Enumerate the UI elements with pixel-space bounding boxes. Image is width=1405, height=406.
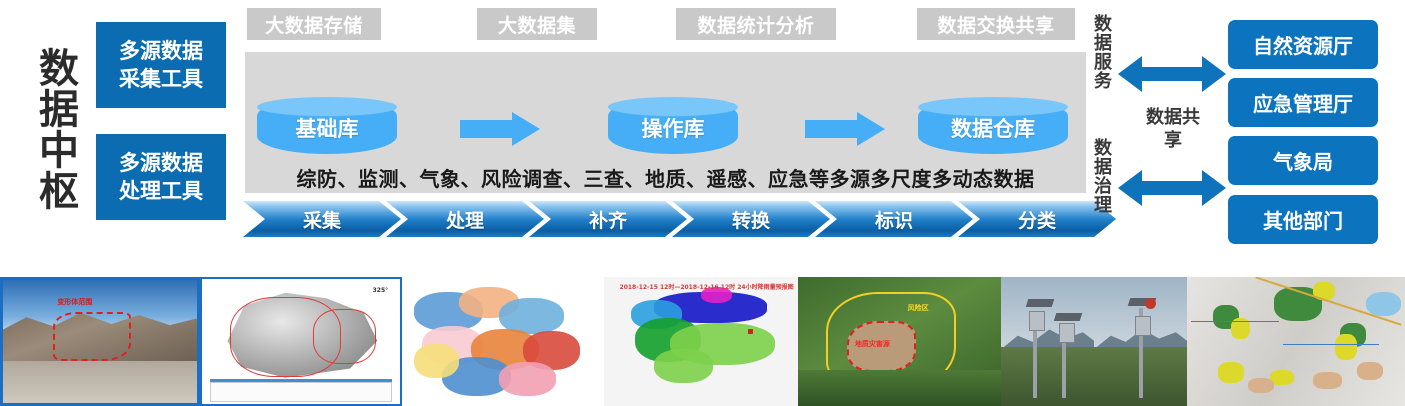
pipeline-step-identify[interactable]: 标识: [815, 201, 973, 237]
photo-hazard-distribution-map[interactable]: [402, 277, 604, 406]
sensor-box: [1135, 316, 1151, 336]
database-cylinder-basic[interactable]: 基础库: [257, 98, 397, 154]
solar-panel: [1054, 313, 1083, 321]
department-others[interactable]: 其他部门: [1228, 195, 1378, 244]
pipeline-step-complete[interactable]: 补齐: [529, 201, 687, 237]
map-canvas: 2018-12-15 12时—2018-12-16 12时 24小时降雨量预报图: [604, 277, 798, 406]
azimuth-annotation: 325°: [373, 287, 389, 294]
flow-arrow-right-icon: [460, 112, 540, 146]
arrow-shaft: [805, 120, 859, 138]
database-cylinder-operational-label: 操作库: [642, 113, 705, 143]
vertical-label-data-governance: 数据治理: [1090, 138, 1112, 238]
photo-strip: 变形体范围 325°: [0, 277, 1405, 406]
data-share-label: 数据共享: [1143, 106, 1203, 152]
header-big-data-storage: 大数据存储: [247, 8, 381, 40]
photo-rainfall-forecast[interactable]: 2018-12-15 12时—2018-12-16 12时 24小时降雨量预报图: [604, 277, 798, 406]
tool-box-collection[interactable]: 多源数据 采集工具: [96, 22, 226, 108]
map-legend: [210, 382, 392, 402]
pipeline-step-collect[interactable]: 采集: [243, 201, 401, 237]
double-arrow-icon-bottom: [1118, 170, 1226, 206]
arrow-head: [512, 112, 540, 146]
forecast-title-annotation: 2018-12-15 12时—2018-12-16 12时 24小时降雨量预报图: [620, 282, 794, 291]
database-cylinder-warehouse[interactable]: 数据仓库: [918, 98, 1068, 154]
arrow-shaft: [1140, 67, 1204, 81]
risk-zone-label: 风险区: [908, 303, 929, 313]
arrow-head-right: [1202, 170, 1226, 206]
page-title: 数据中枢: [24, 26, 86, 231]
tool-box-processing-line1: 多源数据: [119, 149, 203, 177]
pipeline-step-process[interactable]: 处理: [386, 201, 544, 237]
tool-box-collection-line1: 多源数据: [119, 37, 203, 65]
header-statistical-analysis: 数据统计分析: [676, 8, 836, 40]
photo-monitoring-station-1[interactable]: [1001, 277, 1094, 406]
photo-annotation-label: 变形体范围: [57, 297, 92, 307]
pipeline-steps: 采集 处理 补齐 转换 标识 分类: [243, 201, 1105, 237]
arrow-head: [857, 112, 885, 146]
arrow-head-right: [1202, 56, 1226, 92]
header-big-data-set: 大数据集: [477, 8, 597, 40]
photo-aerial-hazard-zone[interactable]: 风险区 地质灾害源: [798, 277, 1001, 406]
tool-box-collection-line2: 采集工具: [119, 65, 203, 93]
panel-caption: 综防、监测、气象、风险调查、三查、地质、遥感、应急等多源多尺度多动态数据: [245, 163, 1086, 192]
vegetation-region: [1001, 347, 1094, 406]
department-natural-resources[interactable]: 自然资源厅: [1228, 20, 1378, 69]
photo-monitoring-station-2[interactable]: [1094, 277, 1187, 406]
map-canvas: [402, 277, 604, 406]
pipeline-step-transform[interactable]: 转换: [672, 201, 830, 237]
tool-box-processing-line2: 处理工具: [119, 177, 203, 205]
sensor-box: [1059, 323, 1075, 343]
photo-terrain-landuse-map[interactable]: [1187, 277, 1405, 406]
boundary-outline: [313, 309, 376, 364]
photo-landslide-field[interactable]: 变形体范围: [0, 277, 200, 406]
tool-box-processing[interactable]: 多源数据 处理工具: [96, 134, 226, 220]
arrow-shaft: [1140, 181, 1204, 195]
flow-arrow-right-icon: [805, 112, 885, 146]
header-data-exchange-share: 数据交换共享: [917, 8, 1075, 40]
arrow-shaft: [460, 120, 514, 138]
hazard-source-label: 地质灾害源: [855, 339, 890, 349]
double-arrow-icon-top: [1118, 56, 1226, 92]
database-cylinder-warehouse-label: 数据仓库: [951, 113, 1035, 143]
database-cylinder-basic-label: 基础库: [296, 113, 359, 143]
vertical-label-data-service: 数据服务: [1090, 14, 1112, 114]
photo-dem-interpretation[interactable]: 325°: [200, 277, 402, 406]
town-region: [3, 361, 197, 403]
warning-lamp-icon: [1145, 298, 1156, 309]
sensor-box: [1029, 311, 1045, 331]
database-cylinder-operational[interactable]: 操作库: [608, 98, 738, 154]
arrow-head-left: [1118, 170, 1142, 206]
solar-panel: [1026, 299, 1055, 307]
department-meteorological-bureau[interactable]: 气象局: [1228, 136, 1378, 185]
arrow-head-left: [1118, 56, 1142, 92]
department-emergency-management[interactable]: 应急管理厅: [1228, 78, 1378, 127]
landslide-outline: [53, 312, 131, 361]
diagram-canvas: 数据中枢 多源数据 采集工具 多源数据 处理工具 大数据存储 大数据集 数据统计…: [0, 0, 1405, 406]
